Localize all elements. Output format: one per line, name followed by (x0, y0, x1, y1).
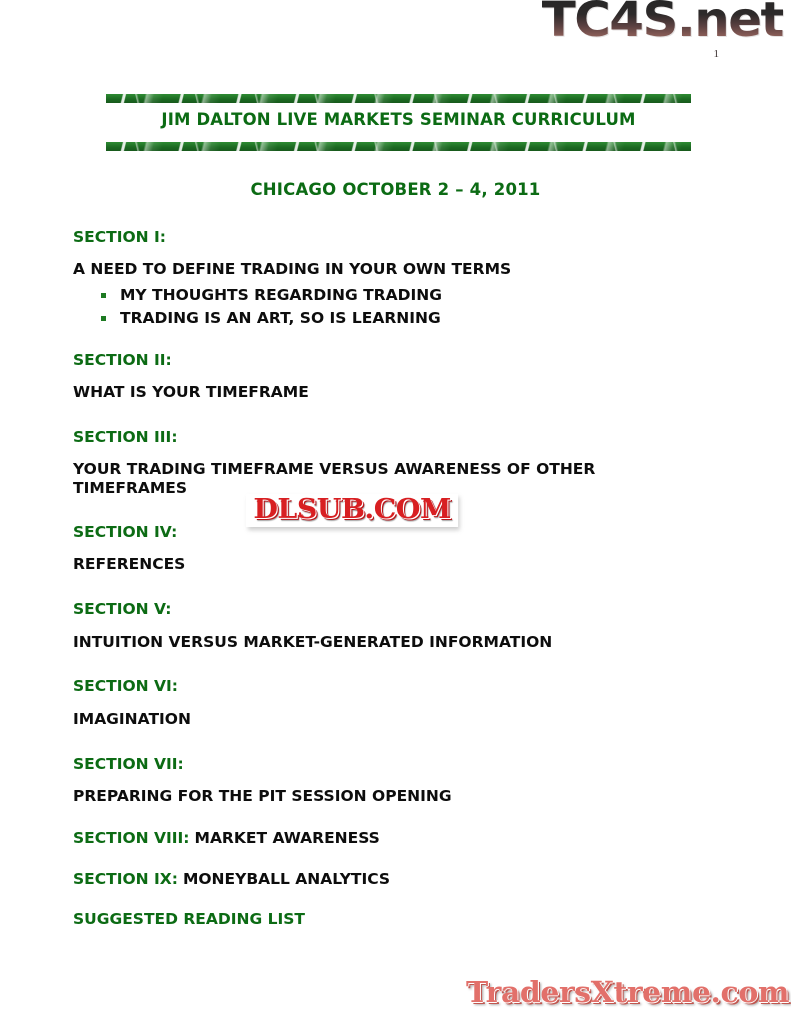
decorative-bar-bottom (106, 142, 691, 151)
section-block-7: SECTION VII: PREPARING FOR THE PIT SESSI… (73, 755, 698, 806)
section-body-1: A NEED TO DEFINE TRADING IN YOUR OWN TER… (73, 260, 698, 279)
square-bullet-icon (101, 293, 106, 298)
section-heading-6: SECTION VI: (73, 677, 698, 695)
section-block-2: SECTION II: WHAT IS YOUR TIMEFRAME (73, 351, 698, 402)
section-body-6: IMAGINATION (73, 710, 698, 729)
section-block-6: SECTION VI: IMAGINATION (73, 677, 698, 728)
page-subtitle: CHICAGO OCTOBER 2 – 4, 2011 (0, 180, 791, 199)
section-heading-7: SECTION VII: (73, 755, 698, 773)
section-block-8: SECTION VIII:MARKET AWARENESS (73, 828, 698, 848)
square-bullet-icon (101, 316, 106, 321)
curriculum-content: SECTION I: A NEED TO DEFINE TRADING IN Y… (73, 228, 698, 928)
list-item-label: TRADING IS AN ART, SO IS LEARNING (120, 309, 441, 327)
section-body-7: PREPARING FOR THE PIT SESSION OPENING (73, 787, 698, 806)
dlsub-watermark: DLSUB.COM (246, 494, 458, 527)
page-title: JIM DALTON LIVE MARKETS SEMINAR CURRICUL… (106, 110, 691, 129)
section-heading-5: SECTION V: (73, 600, 698, 618)
section-body-2: WHAT IS YOUR TIMEFRAME (73, 383, 698, 402)
section-block-4: SECTION IV: REFERENCES (73, 523, 698, 574)
section-block-1: SECTION I: A NEED TO DEFINE TRADING IN Y… (73, 228, 698, 330)
list-item: TRADING IS AN ART, SO IS LEARNING (101, 307, 698, 330)
section-body-8: MARKET AWARENESS (195, 829, 380, 847)
section-heading-3: SECTION III: (73, 428, 698, 446)
section-block-9: SECTION IX:MONEYBALL ANALYTICS (73, 869, 698, 889)
section-body-3: YOUR TRADING TIMEFRAME VERSUS AWARENESS … (73, 460, 698, 498)
list-item: MY THOUGHTS REGARDING TRADING (101, 284, 698, 307)
section-heading-1: SECTION I: (73, 228, 698, 246)
section-block-3: SECTION III: YOUR TRADING TIMEFRAME VERS… (73, 428, 698, 498)
section-heading-8: SECTION VIII: (73, 829, 190, 847)
section-block-5: SECTION V: INTUITION VERSUS MARKET-GENER… (73, 600, 698, 651)
tradersxtreme-footer-logo: TradersXtreme.com (466, 978, 789, 1007)
list-item-label: MY THOUGHTS REGARDING TRADING (120, 286, 442, 304)
section-heading-9: SECTION IX: (73, 870, 178, 888)
section-body-9: MONEYBALL ANALYTICS (183, 870, 390, 888)
decorative-bar-top (106, 94, 691, 103)
tc4s-brand-logo: TC4S.net (542, 0, 783, 44)
document-page: TC4S.net 1 JIM DALTON LIVE MARKETS SEMIN… (0, 0, 791, 1024)
section-heading-2: SECTION II: (73, 351, 698, 369)
section-1-bullet-list: MY THOUGHTS REGARDING TRADING TRADING IS… (73, 284, 698, 330)
page-number: 1 (714, 48, 720, 60)
section-body-4: REFERENCES (73, 555, 698, 574)
suggested-reading-list-heading: SUGGESTED READING LIST (73, 910, 698, 928)
section-body-5: INTUITION VERSUS MARKET-GENERATED INFORM… (73, 633, 698, 652)
